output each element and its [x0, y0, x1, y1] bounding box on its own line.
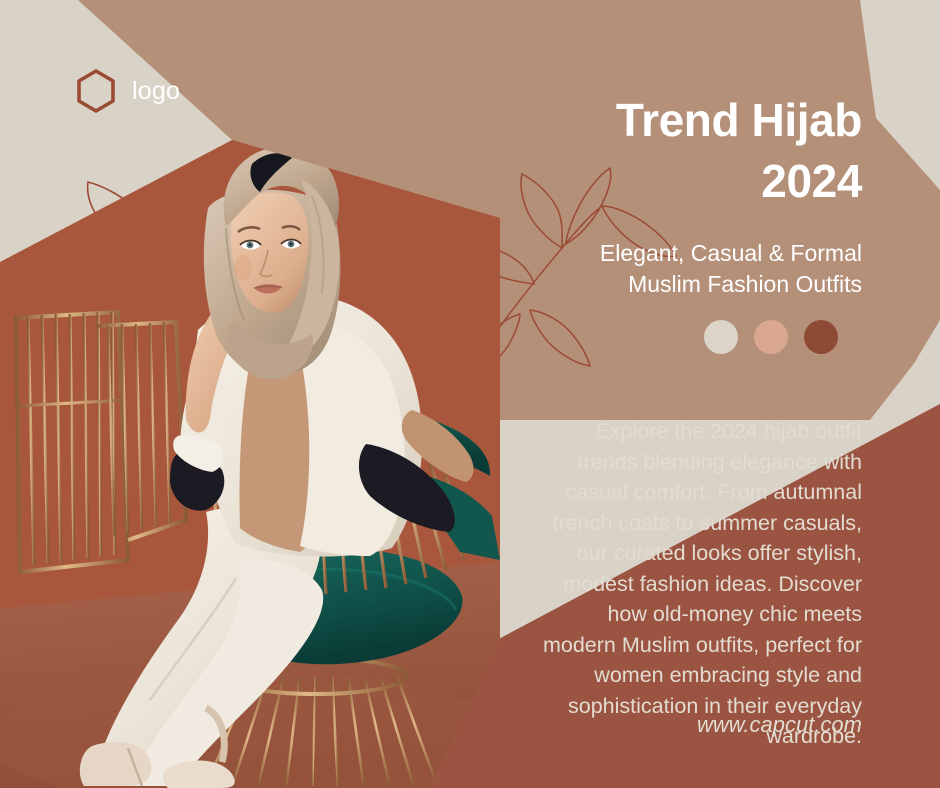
page-title-line-2: 2024 — [442, 151, 862, 212]
website-url[interactable]: www.capcut.com — [542, 712, 862, 738]
swatch-blush-tan[interactable] — [754, 320, 788, 354]
subtitle-line-2: Muslim Fashion Outfits — [442, 269, 862, 300]
logo[interactable]: logo — [74, 68, 180, 114]
swatch-cream[interactable] — [704, 320, 738, 354]
poster-canvas: logo Trend Hijab 2024 Elegant, Casual & … — [0, 0, 940, 788]
swatch-rust[interactable] — [804, 320, 838, 354]
logo-label: logo — [132, 79, 180, 104]
body-paragraph: Explore the 2024 hijab outfit trends ble… — [542, 416, 862, 752]
subtitle-block: Elegant, Casual & Formal Muslim Fashion … — [442, 238, 862, 300]
subtitle-line-1: Elegant, Casual & Formal — [442, 238, 862, 269]
hexagon-outline-icon — [74, 68, 118, 114]
color-swatch-group — [704, 320, 838, 354]
page-title-line-1: Trend Hijab — [442, 90, 862, 151]
headline-block: Trend Hijab 2024 — [442, 90, 862, 211]
